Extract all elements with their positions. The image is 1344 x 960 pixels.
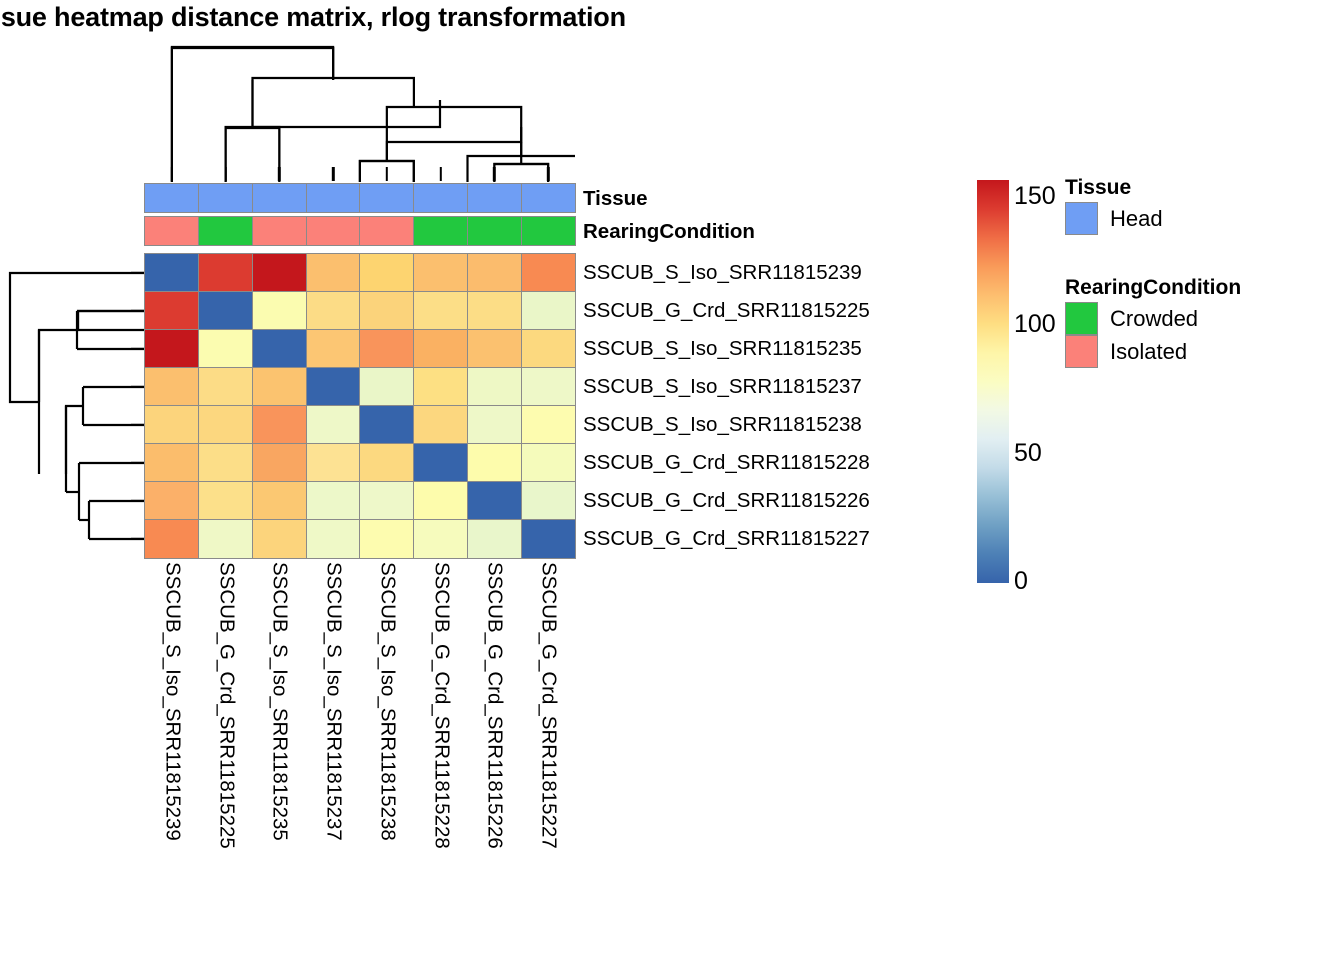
legend-item[interactable]: Crowded — [1065, 302, 1241, 335]
heatmap-cell — [359, 443, 414, 482]
annotation-cell — [521, 216, 576, 245]
heatmap-cell — [252, 329, 307, 368]
annotation-cell — [144, 216, 199, 245]
row-label: SSCUB_G_Crd_SRR11815227 — [583, 520, 870, 558]
row-tick — [131, 444, 145, 482]
row-label: SSCUB_S_Iso_SRR11815235 — [583, 330, 870, 368]
colorbar-tick-label: 50 — [1014, 441, 1042, 466]
heatmap-cell — [521, 253, 576, 292]
row-label: SSCUB_S_Iso_SRR11815239 — [583, 254, 870, 292]
heatmap-cell — [144, 481, 199, 520]
heatmap-cell — [413, 405, 468, 444]
row-label: SSCUB_G_Crd_SRR11815225 — [583, 292, 870, 330]
heatmap-cell — [467, 405, 522, 444]
column-label-slot: SSCUB_G_Crd_SRR11815228 — [414, 562, 468, 922]
column-label-slot: SSCUB_S_Iso_SRR11815239 — [145, 562, 199, 922]
annotation-cell — [359, 183, 414, 212]
column-tick — [468, 167, 522, 181]
heatmap-cell — [359, 367, 414, 406]
heatmap-cell — [521, 367, 576, 406]
heatmap-cell — [198, 291, 253, 330]
legend-swatch — [1065, 202, 1098, 235]
heatmap-cell — [144, 253, 199, 292]
column-dendrogram-links — [145, 46, 575, 182]
heatmap-cell — [521, 405, 576, 444]
annotation-cell — [467, 216, 522, 245]
heatmap-cell — [467, 481, 522, 520]
annotation-cell — [359, 216, 414, 245]
heatmap-cell — [198, 367, 253, 406]
annotation-cell — [306, 216, 361, 245]
heatmap-cell — [413, 443, 468, 482]
annotation-cell — [413, 216, 468, 245]
legend-swatch — [1065, 302, 1098, 335]
heatmap-cell — [252, 443, 307, 482]
heatmap-cell — [413, 253, 468, 292]
row-label: SSCUB_G_Crd_SRR11815228 — [583, 444, 870, 482]
tick-mark-icon — [131, 500, 145, 502]
row-tick — [131, 520, 145, 558]
heatmap-cell — [413, 329, 468, 368]
heatmap-cell — [144, 519, 199, 558]
legend-rearingcondition: RearingConditionCrowdedIsolated — [1065, 276, 1241, 368]
tick-mark-icon — [224, 167, 226, 181]
annotation-cell — [413, 183, 468, 212]
annotation-label-tissue: Tissue — [583, 187, 648, 211]
heatmap-cell — [413, 291, 468, 330]
tick-mark-icon — [278, 167, 280, 181]
legend-item-label: Isolated — [1110, 339, 1187, 365]
annotation-cell — [252, 216, 307, 245]
annotation-cell — [198, 183, 253, 212]
colorbar-tick-label: 100 — [1014, 312, 1056, 337]
row-tick — [131, 292, 145, 330]
column-label-slot: SSCUB_G_Crd_SRR11815226 — [468, 562, 522, 922]
colorbar — [977, 180, 1009, 583]
heatmap-cell — [252, 291, 307, 330]
heatmap-cell — [413, 367, 468, 406]
heatmap-cell — [467, 367, 522, 406]
heatmap-cell — [467, 291, 522, 330]
row-dendrogram — [6, 254, 145, 558]
legend-item-label: Head — [1110, 206, 1163, 232]
tick-mark-icon — [332, 167, 334, 181]
heatmap-cell — [198, 481, 253, 520]
colorbar-tick-label: 0 — [1014, 569, 1028, 594]
legend-item-label: Crowded — [1110, 306, 1198, 332]
legend-item[interactable]: Head — [1065, 202, 1163, 235]
heatmap-cell — [359, 405, 414, 444]
column-label: SSCUB_G_Crd_SRR11815226 — [484, 562, 505, 849]
annotation-cell — [252, 183, 307, 212]
heatmap-cell — [413, 519, 468, 558]
legend-item[interactable]: Isolated — [1065, 335, 1241, 368]
column-label: SSCUB_G_Crd_SRR11815228 — [430, 562, 451, 849]
heatmap-cell — [521, 443, 576, 482]
column-label-slot: SSCUB_G_Crd_SRR11815225 — [199, 562, 253, 922]
row-tick — [131, 482, 145, 520]
heatmap-cell — [467, 443, 522, 482]
row-tick — [131, 406, 145, 444]
heatmap-cell — [359, 519, 414, 558]
tick-mark-icon — [131, 348, 145, 350]
row-label: SSCUB_S_Iso_SRR11815237 — [583, 368, 870, 406]
heatmap-cell — [359, 481, 414, 520]
heatmap-cell — [252, 481, 307, 520]
column-label: SSCUB_S_Iso_SRR11815238 — [377, 562, 398, 841]
heatmap-cell — [467, 519, 522, 558]
tick-mark-icon — [131, 462, 145, 464]
column-label: SSCUB_G_Crd_SRR11815225 — [215, 562, 236, 849]
column-label: SSCUB_S_Iso_SRR11815239 — [162, 562, 183, 841]
heatmap-cell — [521, 481, 576, 520]
annotation-cell — [467, 183, 522, 212]
heatmap-cell — [198, 519, 253, 558]
heatmap-cell — [144, 367, 199, 406]
heatmap-cell — [306, 253, 361, 292]
legend-title: RearingCondition — [1065, 276, 1241, 300]
heatmap-cell — [198, 253, 253, 292]
tick-mark-icon — [131, 424, 145, 426]
heatmap-cell — [359, 291, 414, 330]
heatmap-cell — [252, 405, 307, 444]
row-label: SSCUB_G_Crd_SRR11815226 — [583, 482, 870, 520]
heatmap-cell — [198, 405, 253, 444]
tick-mark-icon — [171, 167, 173, 181]
heatmap-cell — [252, 519, 307, 558]
heatmap-cell — [306, 519, 361, 558]
annotation-cell — [521, 183, 576, 212]
annotation-bar-tissue — [145, 184, 575, 212]
heatmap-cell — [144, 443, 199, 482]
column-label: SSCUB_G_Crd_SRR11815227 — [538, 562, 559, 849]
heatmap-cell — [306, 329, 361, 368]
tick-mark-icon — [131, 272, 145, 274]
heatmap-cell — [144, 405, 199, 444]
heatmap-cell — [252, 367, 307, 406]
annotation-cell — [144, 183, 199, 212]
annotation-label-rearingcondition: RearingCondition — [583, 220, 755, 244]
column-label: SSCUB_S_Iso_SRR11815235 — [269, 562, 290, 841]
heatmap-cell — [521, 329, 576, 368]
heatmap-cell — [306, 443, 361, 482]
page-title: ssue heatmap distance matrix, rlog trans… — [0, 2, 626, 33]
heatmap-cell — [144, 329, 199, 368]
tick-mark-icon — [131, 386, 145, 388]
legend-swatch — [1065, 335, 1098, 368]
heatmap-cell — [306, 481, 361, 520]
column-tick — [521, 167, 575, 181]
tick-mark-icon — [493, 167, 495, 181]
heatmap-cell — [359, 329, 414, 368]
column-label-slot: SSCUB_S_Iso_SRR11815238 — [360, 562, 414, 922]
heatmap-cell — [521, 291, 576, 330]
column-label-slot: SSCUB_G_Crd_SRR11815227 — [521, 562, 575, 922]
column-tick — [145, 167, 199, 181]
heatmap-cell — [198, 329, 253, 368]
row-label: SSCUB_S_Iso_SRR11815238 — [583, 406, 870, 444]
row-tick — [131, 254, 145, 292]
heatmap-figure: ssue heatmap distance matrix, rlog trans… — [0, 0, 1344, 960]
heatmap-cell — [306, 405, 361, 444]
column-tick — [306, 167, 360, 181]
tick-mark-icon — [131, 538, 145, 540]
heatmap-cell — [306, 367, 361, 406]
legend-title: Tissue — [1065, 176, 1163, 200]
tick-mark-icon — [386, 167, 388, 181]
column-tick — [360, 167, 414, 181]
tick-mark-icon — [547, 167, 549, 181]
colorbar-tick-label: 150 — [1014, 184, 1056, 209]
row-tick — [131, 330, 145, 368]
tick-mark-icon — [131, 310, 145, 312]
tick-mark-icon — [439, 167, 441, 181]
column-labels: SSCUB_S_Iso_SRR11815239SSCUB_G_Crd_SRR11… — [145, 562, 575, 922]
row-tick — [131, 368, 145, 406]
column-ticks — [145, 167, 575, 181]
heatmap-cell — [467, 329, 522, 368]
annotation-bar-rearingcondition — [145, 217, 575, 245]
heatmap-cell — [359, 253, 414, 292]
heatmap-cell — [252, 253, 307, 292]
heatmap-grid — [145, 254, 575, 558]
heatmap-cell — [467, 253, 522, 292]
annotation-cell — [198, 216, 253, 245]
heatmap-cell — [198, 443, 253, 482]
annotation-cell — [306, 183, 361, 212]
heatmap-cell — [413, 481, 468, 520]
legend-tissue: TissueHead — [1065, 176, 1163, 235]
column-tick — [253, 167, 307, 181]
column-tick — [199, 167, 253, 181]
column-label-slot: SSCUB_S_Iso_SRR11815237 — [306, 562, 360, 922]
column-tick — [414, 167, 468, 181]
heatmap-cell — [306, 291, 361, 330]
row-labels: SSCUB_S_Iso_SRR11815239SSCUB_G_Crd_SRR11… — [583, 254, 870, 558]
heatmap-cell — [521, 519, 576, 558]
column-label: SSCUB_S_Iso_SRR11815237 — [323, 562, 344, 841]
column-label-slot: SSCUB_S_Iso_SRR11815235 — [253, 562, 307, 922]
row-ticks — [131, 254, 145, 558]
heatmap-cell — [144, 291, 199, 330]
